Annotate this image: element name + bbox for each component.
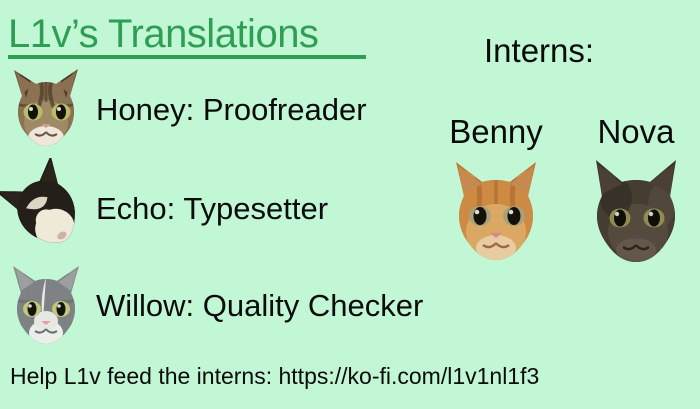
- title-underline: [8, 55, 366, 59]
- credits-page: L1v’s Translations: [0, 0, 700, 409]
- willow-cat-photo: [0, 257, 92, 353]
- interns-heading: Interns:: [484, 34, 594, 67]
- echo-cat-photo: [0, 158, 92, 254]
- nova-cat-photo: [572, 152, 700, 272]
- intern-name-benny: Benny: [432, 115, 560, 148]
- staff-label-willow: Willow: Quality Checker: [96, 290, 423, 321]
- page-title: L1v’s Translations: [8, 14, 318, 54]
- intern-name-nova: Nova: [572, 115, 700, 148]
- staff-label-echo: Echo: Typesetter: [96, 193, 328, 224]
- staff-row: Willow: Quality Checker: [0, 257, 423, 353]
- honey-cat-photo: [0, 60, 92, 156]
- staff-row: Echo: Typesetter: [0, 158, 328, 254]
- footer-support-note[interactable]: Help L1v feed the interns: https://ko-fi…: [10, 365, 539, 388]
- staff-label-honey: Honey: Proofreader: [96, 94, 367, 125]
- benny-cat-photo: [432, 152, 560, 272]
- intern-nova: Nova: [572, 115, 700, 272]
- intern-benny: Benny: [432, 115, 560, 272]
- staff-row: Honey: Proofreader: [0, 60, 367, 156]
